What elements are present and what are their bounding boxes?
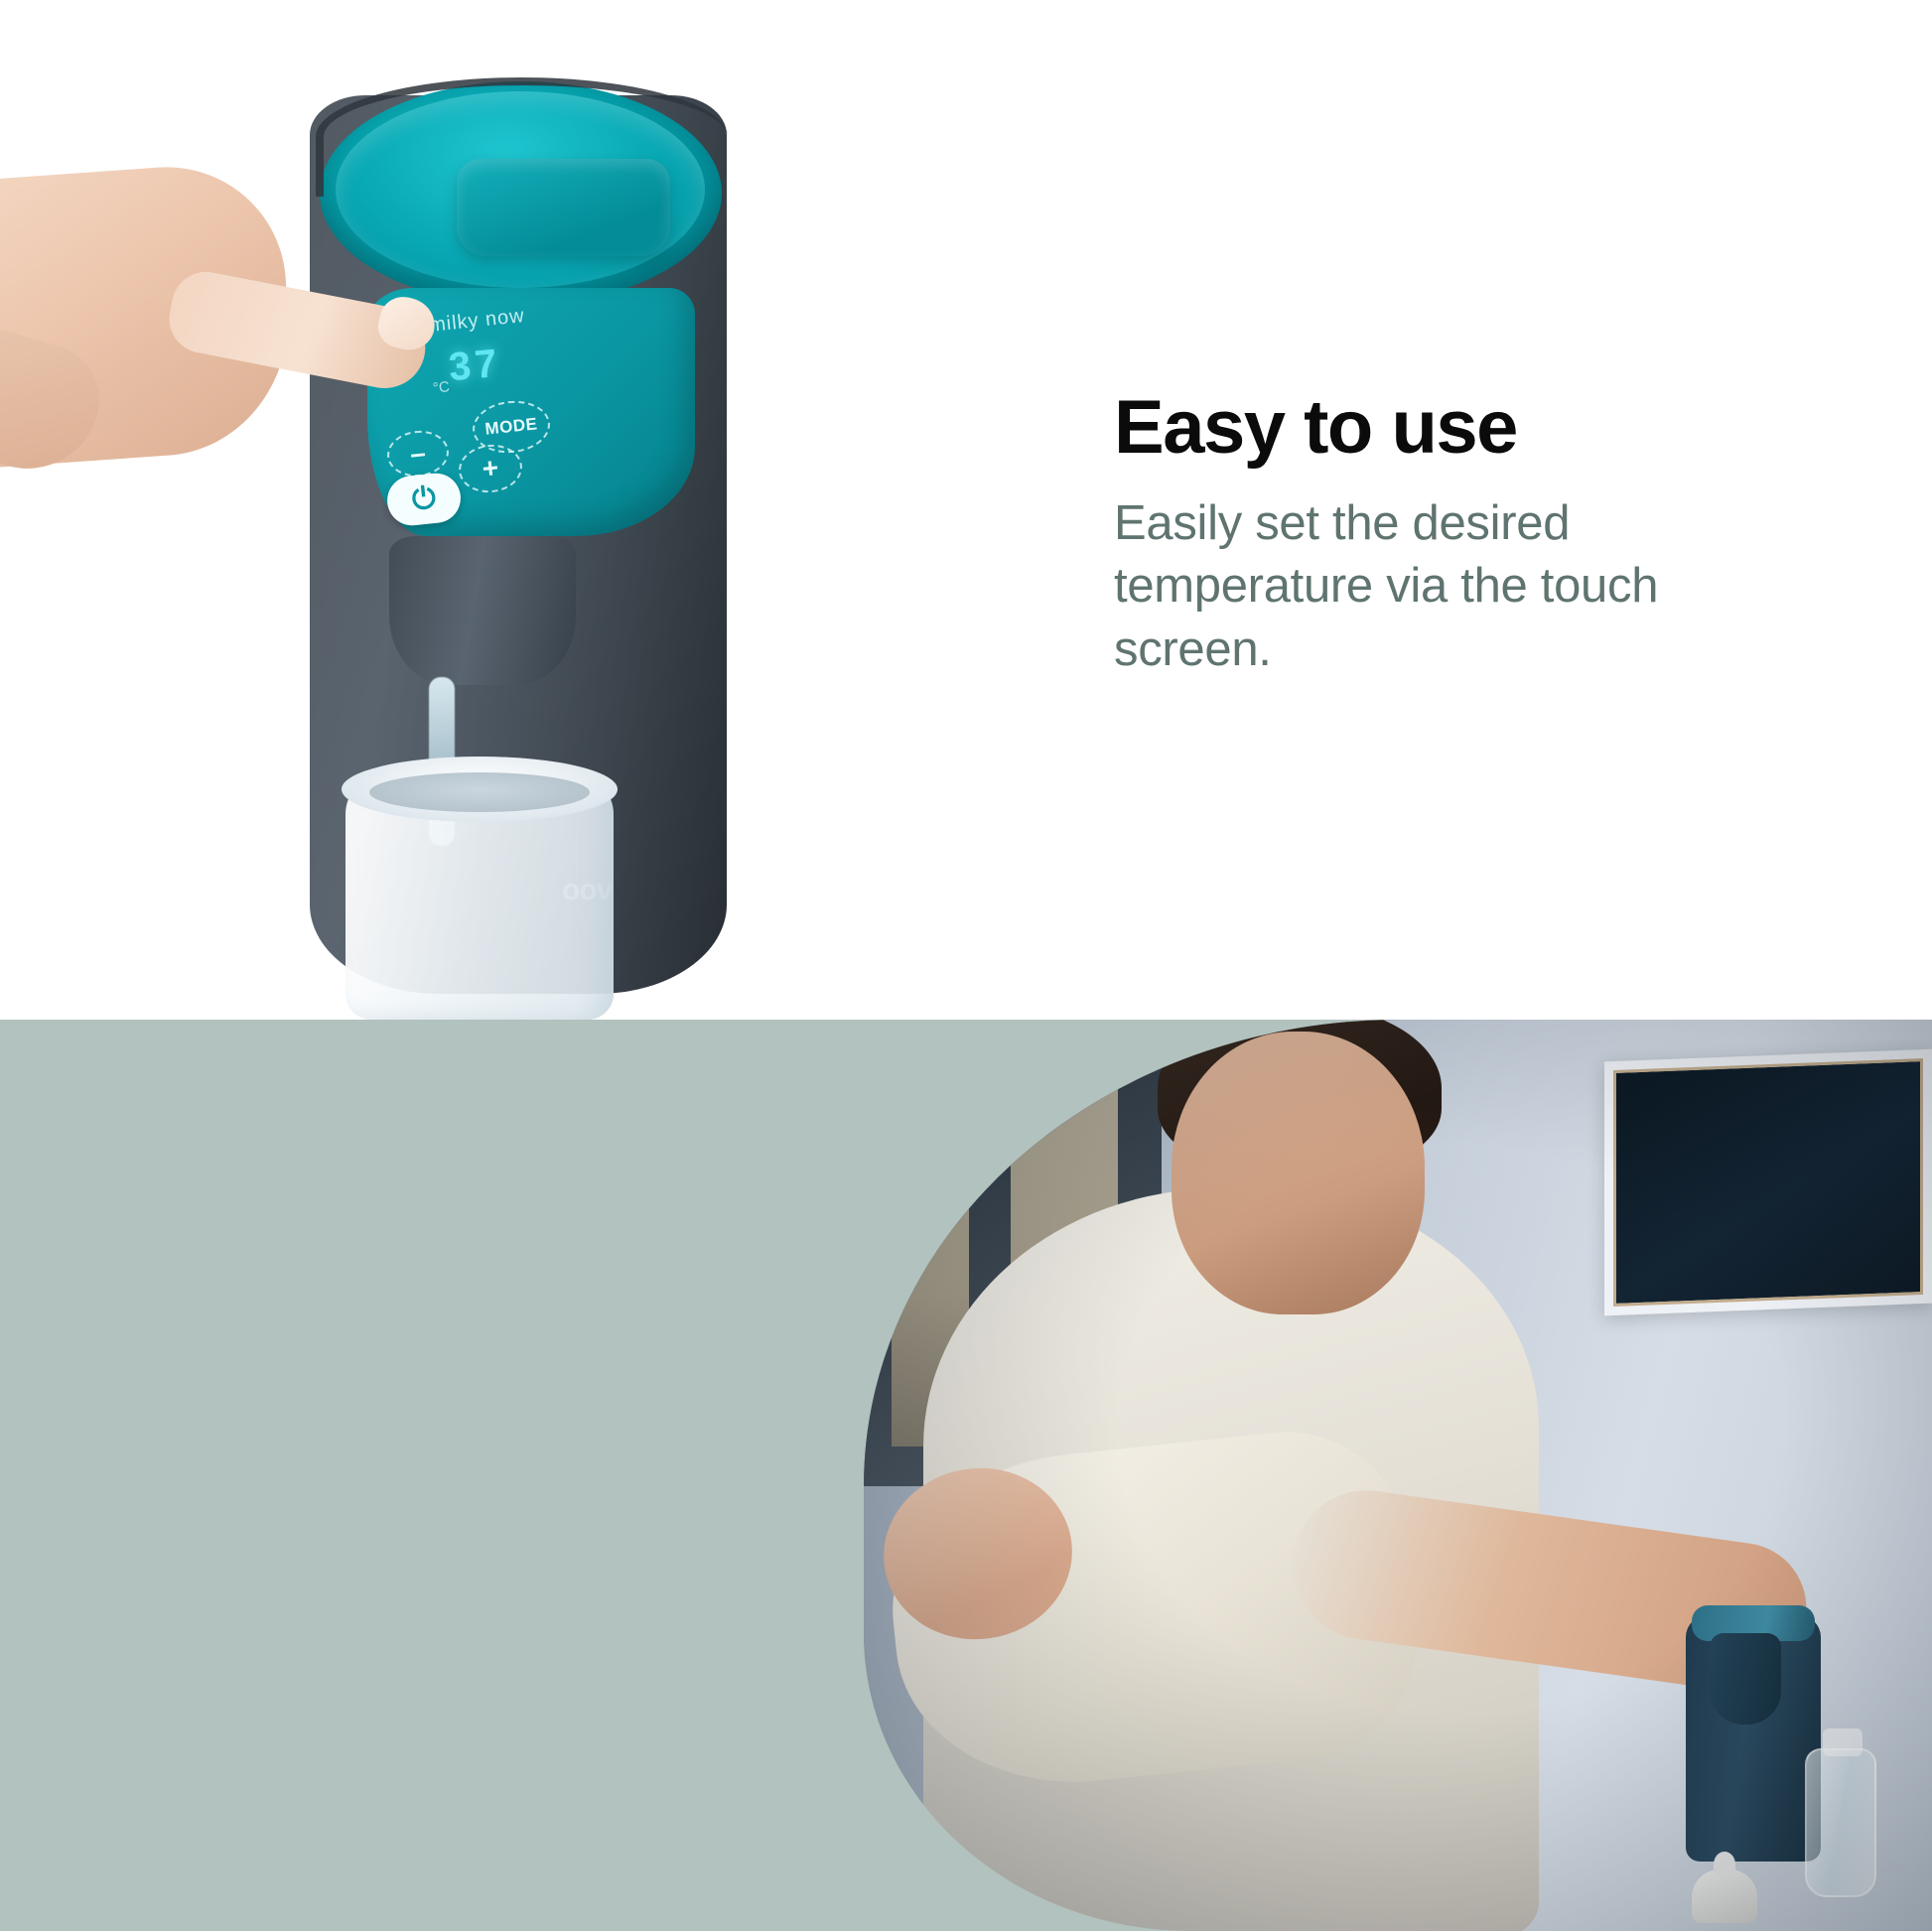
device-lid-handle [457,159,670,256]
marketing-image-root: milky now 37 °C MODE – + ⏻ oov Easy to u… [0,0,1932,1931]
panel-easy-to-use: milky now 37 °C MODE – + ⏻ oov Easy to u… [0,0,1932,1020]
photo-vignette [864,1020,1932,1931]
lifestyle-photo-practical [864,1020,1932,1931]
device-spout [389,536,576,685]
copy-block-easy-to-use: Easy to use Easily set the desired tempe… [1114,389,1809,682]
device-temperature-unit: °C [432,378,451,397]
panel-practical: Practical Large capacity (1.1L): quickly… [0,1020,1932,1931]
body-easy-to-use: Easily set the desired temperature via t… [1114,492,1809,682]
lifestyle-photo-canvas [864,1020,1932,1931]
headline-easy-to-use: Easy to use [1114,389,1809,467]
device-temperature-display: 37 [447,342,502,390]
product-photo-easy-to-use: milky now 37 °C MODE – + ⏻ oov [0,0,894,1020]
baby-bottle-opening [369,772,590,812]
